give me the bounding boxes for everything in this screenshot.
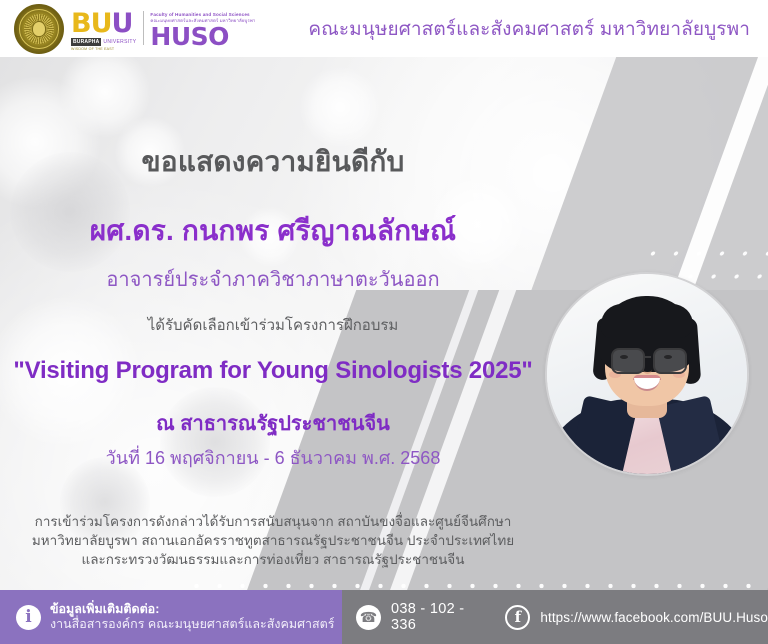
contact-text-block: ข้อมูลเพิ่มเติมติดต่อ: งานสื่อสารองค์กร … <box>50 602 335 632</box>
contact-title: ข้อมูลเพิ่มเติมติดต่อ: <box>50 602 335 617</box>
footer-contact-section: i ข้อมูลเพิ่มเติมติดต่อ: งานสื่อสารองค์ก… <box>0 590 342 644</box>
phone-icon: ☎ <box>356 605 381 630</box>
program-date: วันที่ 16 พฤศจิกายน - 6 ธันวาคม พ.ศ. 256… <box>0 443 546 472</box>
support-note-line: และกระทรวงวัฒนธรรมและการท่องเที่ยว สาธาร… <box>0 550 546 569</box>
buu-wordmark: BUU <box>71 11 132 37</box>
facebook-icon[interactable]: f <box>505 605 530 630</box>
contact-department: งานสื่อสารองค์กร คณะมนุษยศาสตร์และสังคมศ… <box>50 617 335 632</box>
buu-letters-purple: U <box>112 8 133 39</box>
buu-logo: BUU BURAPHA UNIVERSITY WISDOM OF THE EAS… <box>71 7 136 52</box>
honoree-position: อาจารย์ประจำภาควิชาภาษาตะวันออก <box>0 263 546 295</box>
program-title: "Visiting Program for Young Sinologists … <box>0 357 546 385</box>
info-icon-glyph: i <box>25 609 31 626</box>
portrait-circle-frame <box>545 272 749 476</box>
honoree-portrait <box>545 272 749 476</box>
huso-logo: Faculty of Humanities and Social Science… <box>150 7 255 49</box>
portrait-eye-right <box>664 355 672 359</box>
congratulation-heading: ขอแสดงความยินดีกับ <box>0 140 546 184</box>
header-logo-group: BUU BURAPHA UNIVERSITY WISDOM OF THE EAS… <box>14 3 255 55</box>
support-note: การเข้าร่วมโครงการดังกล่าวได้รับการสนับส… <box>0 512 546 569</box>
portrait-eyeglass-left <box>611 348 645 374</box>
honoree-name: ผศ.ดร. กนกพร ศรีญาณลักษณ์ <box>0 209 546 253</box>
phone-icon-glyph: ☎ <box>360 610 377 624</box>
portrait-eye-left <box>620 355 628 359</box>
huso-wordmark: HUSO <box>150 25 255 49</box>
buu-tag-university: UNIVERSITY <box>103 39 136 45</box>
facebook-url[interactable]: https://www.facebook.com/BUU.Huso <box>540 610 768 625</box>
info-icon: i <box>16 605 41 630</box>
buu-motto: WISDOM OF THE EAST <box>71 47 114 52</box>
poster-content: ขอแสดงความยินดีกับ ผศ.ดร. กนกพร ศรีญาณลั… <box>0 57 546 590</box>
seal-inner-ring <box>19 9 59 49</box>
burapha-university-seal-icon <box>14 4 64 54</box>
footer-links-section: ☎ 038 - 102 - 336 f https://www.facebook… <box>342 590 768 644</box>
facebook-icon-glyph: f <box>515 610 521 625</box>
phone-number[interactable]: 038 - 102 - 336 <box>391 601 485 633</box>
portrait-eyeglass-right <box>653 348 687 374</box>
program-location: ณ สาธารณรัฐประชาชนจีน <box>0 407 546 439</box>
header-faculty-title: คณะมนุษยศาสตร์และสังคมศาสตร์ มหาวิทยาลัย… <box>308 14 750 44</box>
buu-tag-burapha: BURAPHA <box>71 38 101 46</box>
portrait-eyeglass-bridge <box>643 356 651 358</box>
footer-bar: i ข้อมูลเพิ่มเติมติดต่อ: งานสื่อสารองค์ก… <box>0 590 768 644</box>
support-note-line: การเข้าร่วมโครงการดังกล่าวได้รับการสนับส… <box>0 512 546 531</box>
buu-subtitle: BURAPHA UNIVERSITY <box>71 38 136 46</box>
logo-divider <box>143 11 144 45</box>
buu-letters-gold: BU <box>71 8 112 39</box>
congratulation-poster: BUU BURAPHA UNIVERSITY WISDOM OF THE EAS… <box>0 0 768 644</box>
portrait-nose <box>643 364 652 374</box>
selection-statement: ได้รับคัดเลือกเข้าร่วมโครงการฝึกอบรม <box>0 313 546 337</box>
portrait-fringe <box>601 304 693 338</box>
buu-huso-logo: BUU BURAPHA UNIVERSITY WISDOM OF THE EAS… <box>71 7 255 52</box>
header-bar: BUU BURAPHA UNIVERSITY WISDOM OF THE EAS… <box>0 0 768 57</box>
support-note-line: มหาวิทยาลัยบูรพา สถานเอกอัครราชทูตสาธารณ… <box>0 531 546 550</box>
